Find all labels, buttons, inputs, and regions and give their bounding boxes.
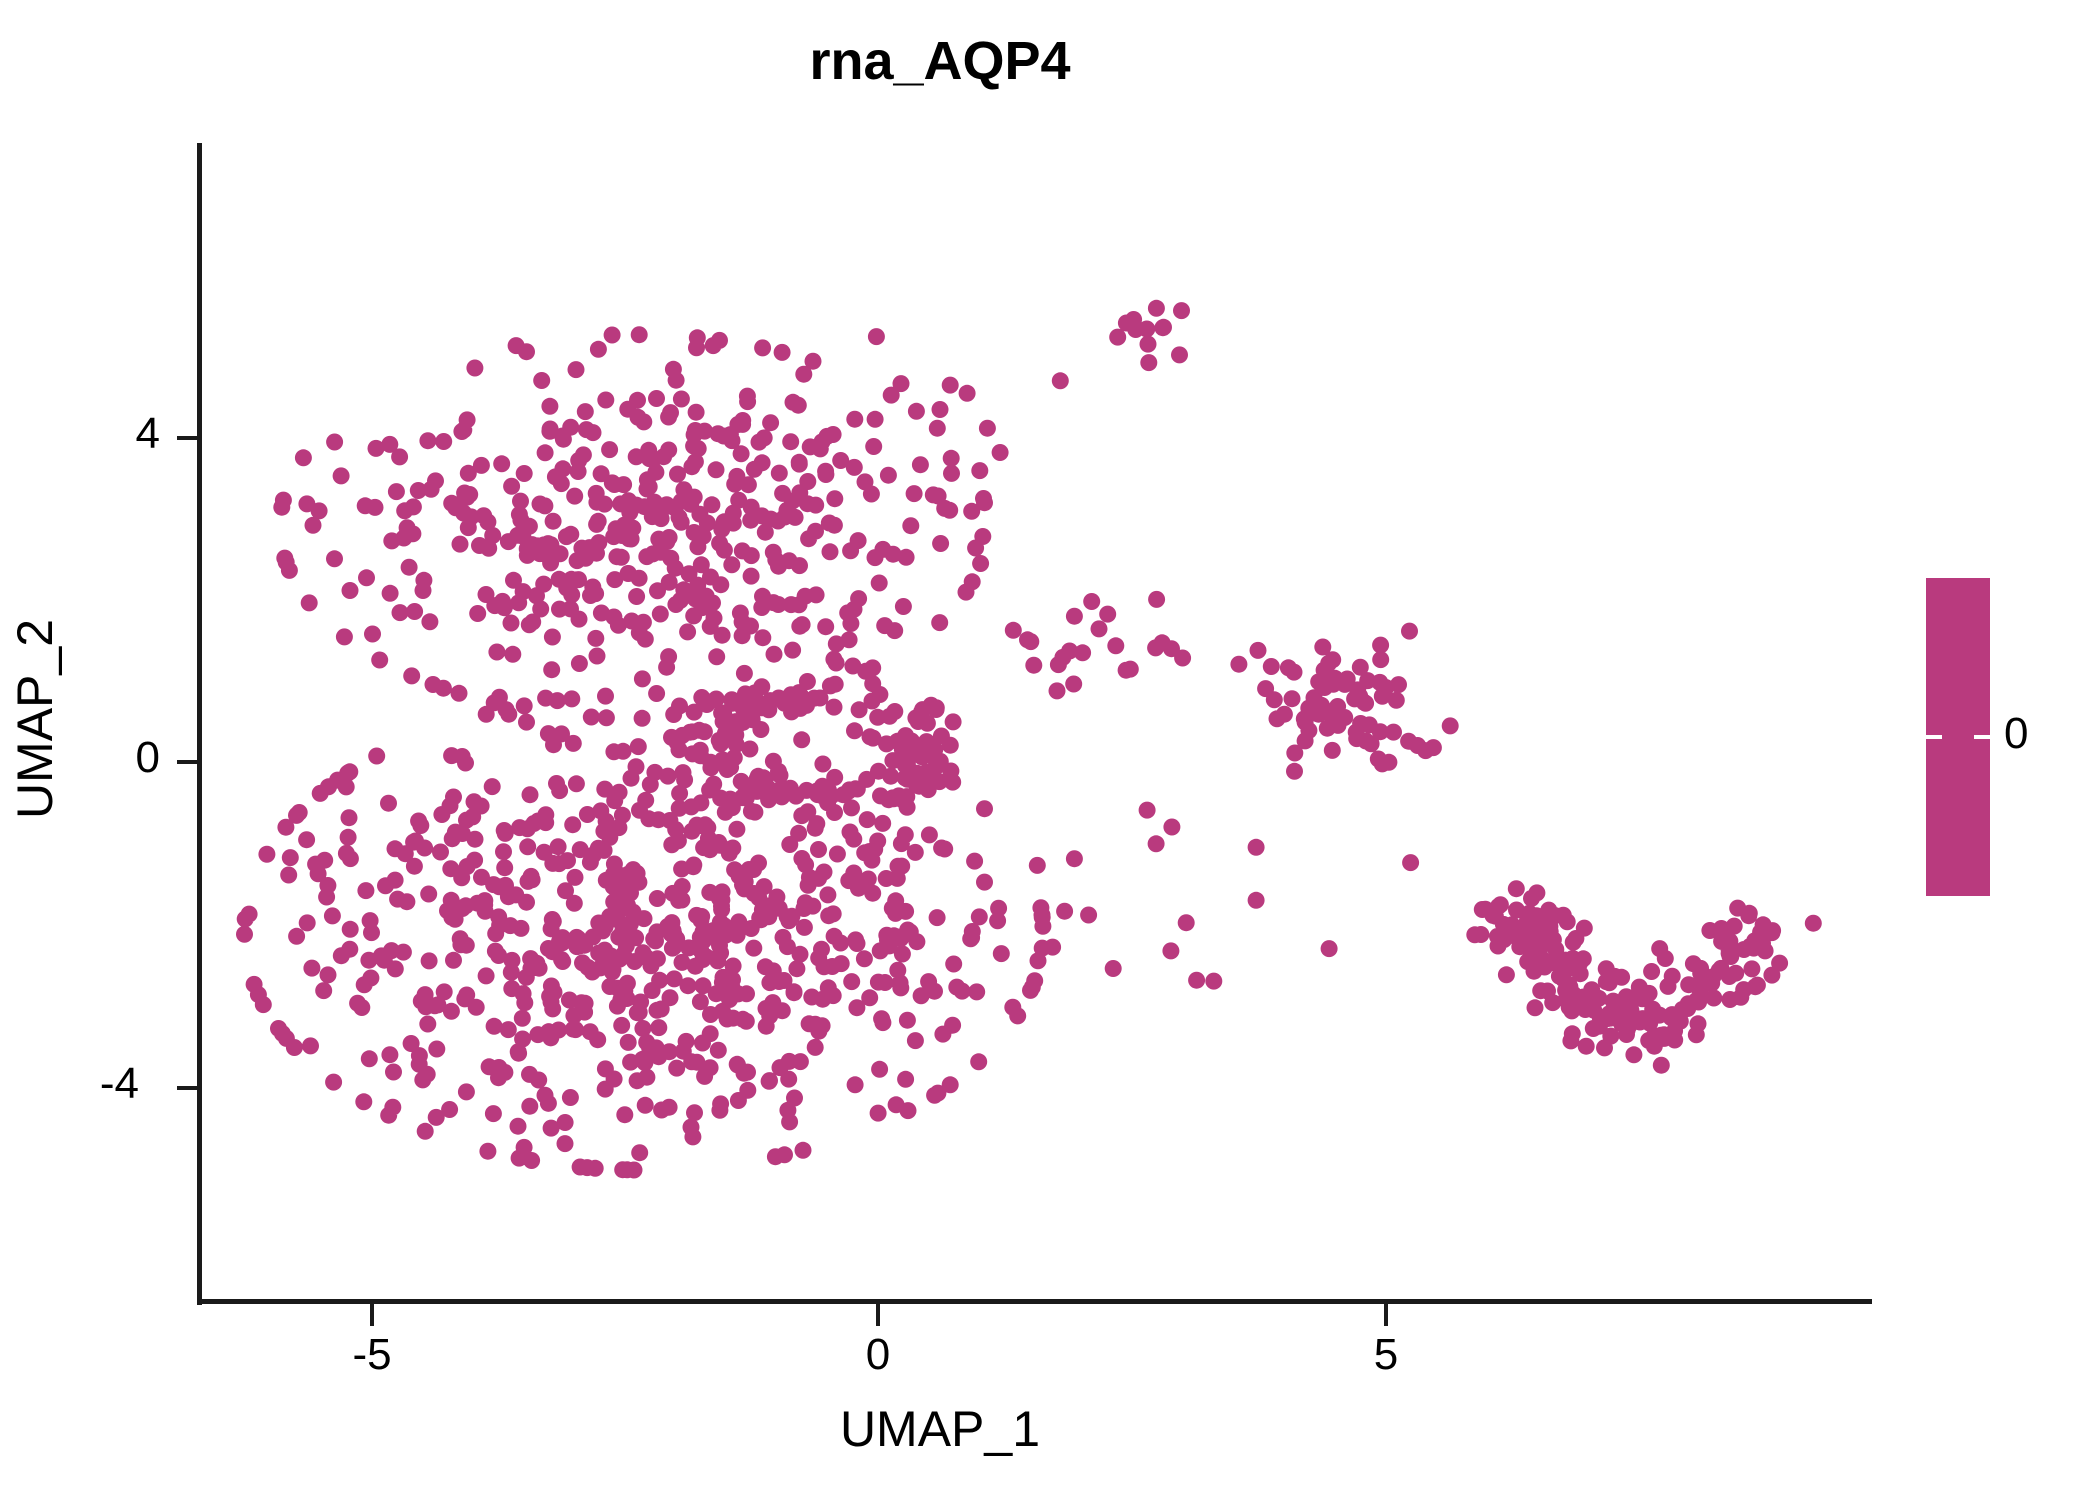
x-tick-mark-5: [1384, 1304, 1388, 1326]
x-tick-mark-0: [876, 1304, 880, 1326]
colorbar-tick-left: [1926, 735, 1942, 739]
y-axis-line: [197, 143, 202, 1305]
scatter-point-group: [236, 300, 1822, 1179]
scatter-points-layer: [0, 0, 2100, 1500]
y-tick-mark-neg4: [177, 1086, 199, 1090]
colorbar-tick-label: 0: [2004, 709, 2028, 759]
colorbar-legend: 0: [1926, 578, 1990, 896]
x-tick-label-5: 5: [1326, 1330, 1446, 1380]
figure-canvas: rna_AQP4 4 0 -4 -5 0 5 UMAP_1 UMAP_2 0: [0, 0, 2100, 1500]
x-tick-label-neg5: -5: [312, 1330, 432, 1380]
x-tick-label-0: 0: [818, 1330, 938, 1380]
colorbar-tick-right: [1974, 735, 1990, 739]
y-axis-label: UMAP_2: [6, 369, 64, 1069]
page-title: rna_AQP4: [0, 30, 1880, 92]
y-tick-mark-4: [177, 436, 199, 440]
x-axis-line: [197, 1299, 1872, 1304]
y-tick-mark-0: [177, 760, 199, 764]
x-axis-label: UMAP_1: [0, 1400, 1880, 1458]
x-tick-mark-neg5: [370, 1304, 374, 1326]
